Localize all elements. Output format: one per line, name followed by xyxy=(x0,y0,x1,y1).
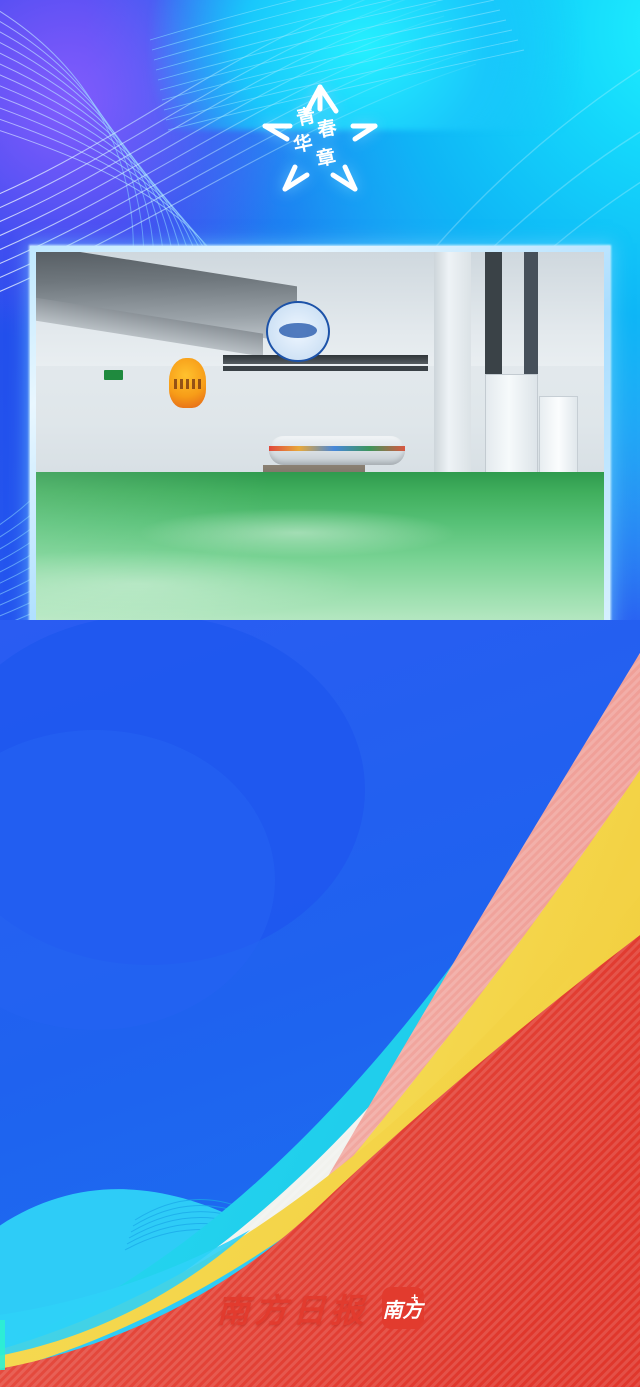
logo-char-qing: 青 xyxy=(294,104,317,129)
mascot-figure xyxy=(169,358,206,407)
news-photo xyxy=(36,252,604,632)
logo-char-chun: 春 xyxy=(315,115,338,141)
logo-char-hua: 华 xyxy=(291,130,314,156)
logo-char-zhang: 章 xyxy=(314,144,337,170)
nanfang-daily-wordmark: 南方日报 xyxy=(217,1284,369,1332)
exit-sign-icon xyxy=(104,370,123,380)
nanfang-plus-badge-plus: + xyxy=(411,1290,419,1305)
institute-emblem-icon xyxy=(266,301,330,362)
footer-brand: 南方日报 南方 + xyxy=(0,1278,640,1338)
star-outline-icon: 青 春 华 章 xyxy=(257,79,383,197)
photo-frame xyxy=(30,246,610,638)
nanfang-plus-badge[interactable]: 南方 + xyxy=(382,1287,424,1329)
bottom-ribbon-decoration xyxy=(0,620,640,1387)
brand-logo: 青 春 华 章 xyxy=(0,78,640,198)
poster-canvas: 青 春 华 章 xyxy=(0,0,640,1387)
